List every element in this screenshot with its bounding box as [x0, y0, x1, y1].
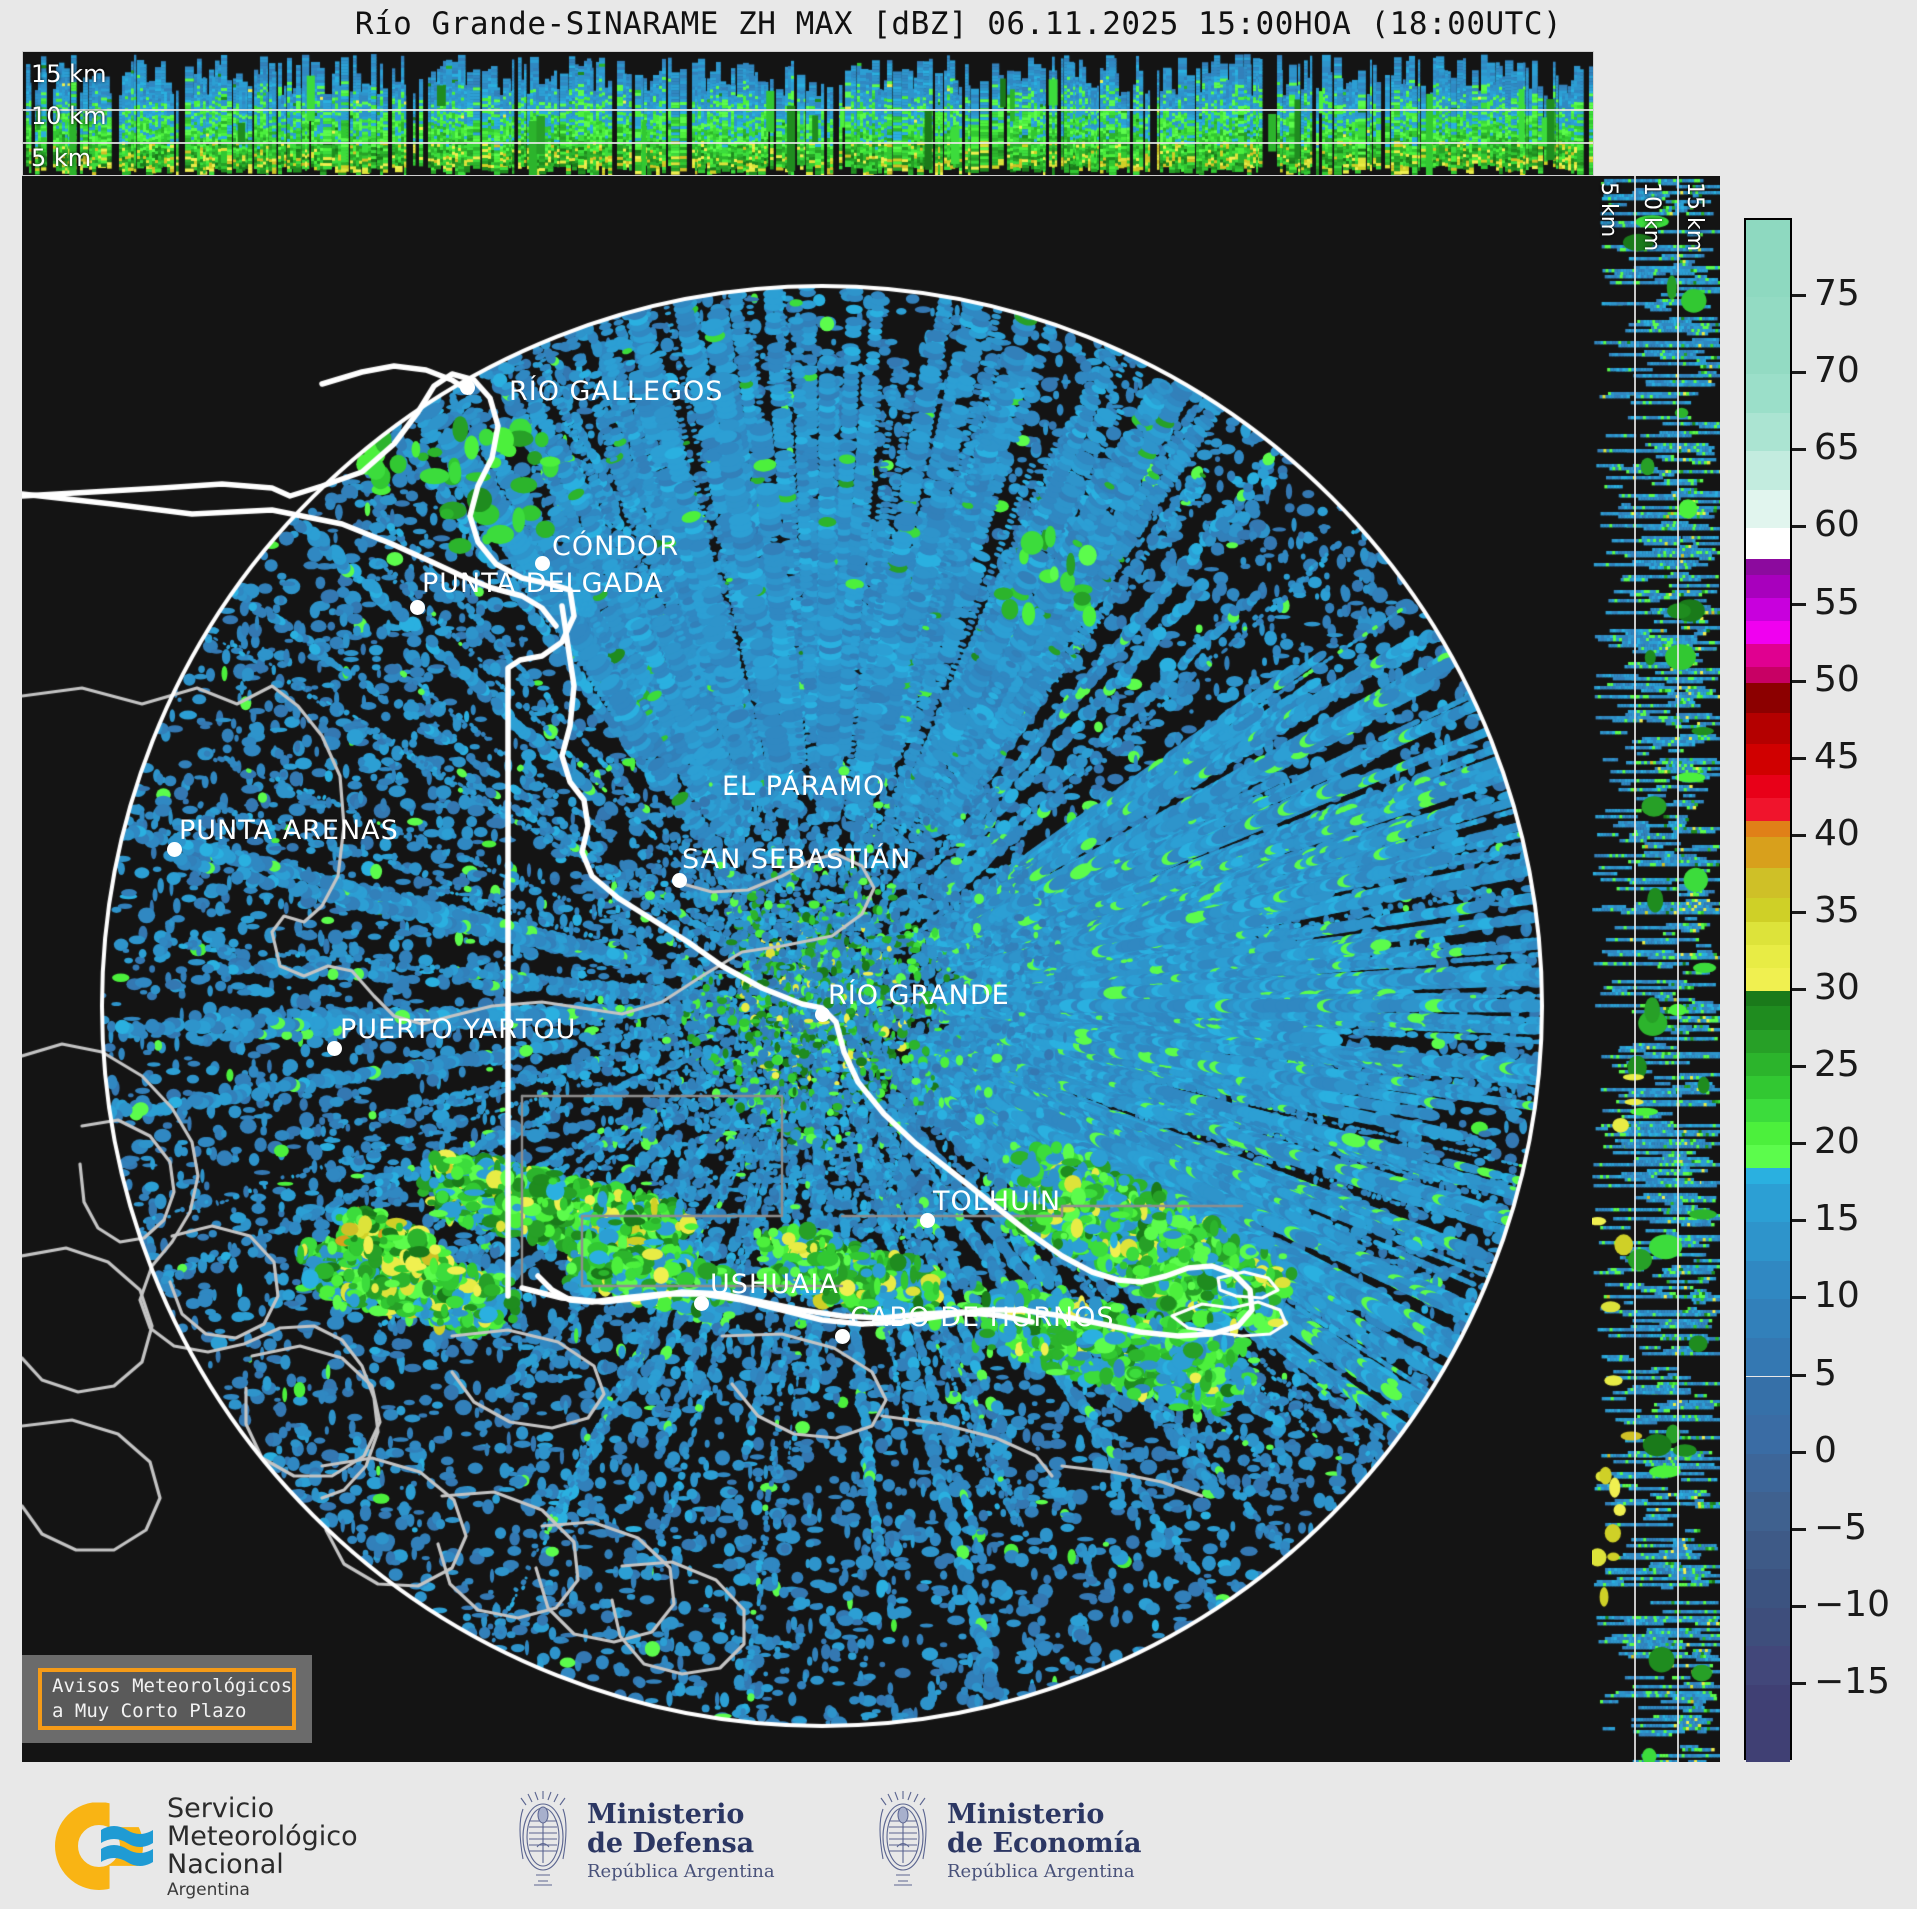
colorbar-segment — [1746, 1099, 1790, 1122]
colorbar-segment — [1746, 1685, 1790, 1762]
colorbar-segment — [1746, 220, 1790, 297]
colorbar-tick-dash — [1792, 371, 1806, 374]
warnings-legend-inner: Avisos Meteorológicos a Muy Corto Plazo — [38, 1668, 296, 1730]
colorbar-tick-label: 65 — [1814, 427, 1860, 468]
city-marker-dot[interactable] — [535, 556, 550, 571]
colorbar-segment — [1746, 528, 1790, 559]
colorbar-segment — [1746, 559, 1790, 574]
defensa-line-2: de Defensa — [587, 1830, 775, 1859]
city-marker-dot[interactable] — [694, 1296, 709, 1311]
colorbar-segment — [1746, 744, 1790, 775]
economia-line-3: República Argentina — [947, 1862, 1141, 1881]
colorbar-tick-label: 15 — [1814, 1198, 1860, 1239]
colorbar-tick-label: 10 — [1814, 1275, 1860, 1316]
colorbar-tick-dash — [1792, 448, 1806, 451]
colorbar-tick-label: 20 — [1814, 1121, 1860, 1162]
colorbar — [1744, 218, 1792, 1760]
smn-line-4: Argentina — [167, 1882, 358, 1900]
colorbar-segment — [1746, 1053, 1790, 1076]
warnings-legend-box[interactable]: Avisos Meteorológicos a Muy Corto Plazo — [22, 1655, 312, 1743]
colorbar-tick-dash — [1792, 988, 1806, 991]
warnings-legend-line2: a Muy Corto Plazo — [52, 1699, 292, 1724]
colorbar-ticks: 757065605550454035302520151050−5−10−15 — [1792, 218, 1912, 1760]
right-height-label-15km: 15 km — [1682, 182, 1707, 251]
height-label-5km: 5 km — [31, 144, 91, 172]
colorbar-tick-dash — [1792, 1682, 1806, 1685]
colorbar-segment — [1746, 1454, 1790, 1493]
colorbar-tick-dash — [1792, 834, 1806, 837]
radar-map-canvas — [22, 176, 1592, 1762]
colorbar-segment — [1746, 945, 1790, 968]
colorbar-segment — [1746, 868, 1790, 899]
colorbar-tick-dash — [1792, 1528, 1806, 1531]
colorbar-segment — [1746, 1030, 1790, 1053]
colorbar-segment — [1746, 968, 1790, 991]
warnings-legend-line1: Avisos Meteorológicos — [52, 1674, 292, 1699]
colorbar-segment — [1746, 1006, 1790, 1029]
colorbar-tick-dash — [1792, 525, 1806, 528]
colorbar-segment — [1746, 1531, 1790, 1570]
colorbar-tick-label: 70 — [1814, 350, 1860, 391]
colorbar-segment — [1746, 1299, 1790, 1338]
logo-ministerio-de-economia[interactable]: Ministerio de Economía República Argenti… — [872, 1789, 1141, 1893]
colorbar-tick-dash — [1792, 1451, 1806, 1454]
colorbar-tick-label: 25 — [1814, 1044, 1860, 1085]
colorbar-tick-label: 0 — [1814, 1430, 1837, 1471]
argentina-coat-of-arms-icon — [512, 1789, 574, 1893]
city-marker-dot[interactable] — [835, 1329, 850, 1344]
top-cross-section-canvas — [23, 52, 1593, 175]
argentina-coat-of-arms-icon — [872, 1789, 934, 1893]
colorbar-segment — [1746, 1646, 1790, 1685]
colorbar-tick-label: −10 — [1814, 1584, 1890, 1625]
colorbar-segment — [1746, 1222, 1790, 1261]
colorbar-tick-dash — [1792, 1219, 1806, 1222]
colorbar-tick-label: 35 — [1814, 890, 1860, 931]
colorbar-tick-label: 75 — [1814, 273, 1860, 314]
colorbar-segment — [1746, 1569, 1790, 1608]
colorbar-segment — [1746, 683, 1790, 714]
colorbar-segment — [1746, 297, 1790, 374]
smn-logo-text: Servicio Meteorológico Nacional Argentin… — [167, 1795, 358, 1900]
city-marker-dot[interactable] — [327, 1041, 342, 1056]
colorbar-segment — [1746, 1608, 1790, 1647]
colorbar-segment — [1746, 413, 1790, 452]
colorbar-segment — [1746, 598, 1790, 621]
page-title: Río Grande-SINARAME ZH MAX [dBZ] 06.11.2… — [0, 6, 1917, 42]
colorbar-tick-dash — [1792, 294, 1806, 297]
colorbar-segment — [1746, 621, 1790, 644]
colorbar-tick-label: −15 — [1814, 1661, 1890, 1702]
colorbar-tick-dash — [1792, 1296, 1806, 1299]
colorbar-tick-label: 60 — [1814, 504, 1860, 545]
colorbar-segment — [1746, 775, 1790, 798]
colorbar-tick-dash — [1792, 1605, 1806, 1608]
colorbar-tick-label: 5 — [1814, 1353, 1837, 1394]
colorbar-segment — [1746, 644, 1790, 667]
smn-line-1: Servicio — [167, 1795, 358, 1823]
colorbar-segment — [1746, 1377, 1790, 1416]
colorbar-segment — [1746, 1145, 1790, 1168]
gridline-5km — [23, 142, 1593, 144]
colorbar-segment — [1746, 1261, 1790, 1300]
colorbar-tick-label: 45 — [1814, 736, 1860, 777]
city-marker-dot[interactable] — [815, 1007, 830, 1022]
smn-flag-icon — [101, 1824, 153, 1870]
colorbar-tick-label: −5 — [1814, 1507, 1867, 1548]
logo-servicio-meteorologico-nacional[interactable]: Servicio Meteorológico Nacional Argentin… — [55, 1795, 358, 1900]
colorbar-tick-dash — [1792, 603, 1806, 606]
colorbar-tick-label: 55 — [1814, 582, 1860, 623]
colorbar-segment — [1746, 451, 1790, 490]
colorbar-segment — [1746, 1415, 1790, 1454]
colorbar-segment — [1746, 821, 1790, 836]
smn-line-2: Meteorológico — [167, 1823, 358, 1851]
colorbar-segment — [1746, 922, 1790, 945]
colorbar-tick-dash — [1792, 1065, 1806, 1068]
defensa-line-1: Ministerio — [587, 1801, 775, 1830]
city-marker-dot[interactable] — [460, 380, 475, 395]
colorbar-segment — [1746, 798, 1790, 821]
colorbar-segment — [1746, 374, 1790, 413]
city-marker-dot[interactable] — [167, 842, 182, 857]
colorbar-segment — [1746, 1338, 1790, 1377]
radar-map-panel[interactable]: RÍO GALLEGOSCÓNDORPUNTA DELGADAEL PÁRAMO… — [22, 176, 1592, 1762]
colorbar-tick-label: 50 — [1814, 659, 1860, 700]
gridline-10km — [23, 109, 1593, 111]
right-height-label-10km: 10 km — [1639, 182, 1664, 251]
colorbar-tick-dash — [1792, 1142, 1806, 1145]
colorbar-tick-label: 30 — [1814, 967, 1860, 1008]
economia-logo-text: Ministerio de Economía República Argenti… — [947, 1801, 1141, 1880]
right-height-label-5km: 5 km — [1596, 182, 1621, 237]
city-marker-dot[interactable] — [672, 873, 687, 888]
colorbar-segment — [1746, 1076, 1790, 1099]
colorbar-segment — [1746, 1168, 1790, 1183]
colorbar-segment — [1746, 898, 1790, 921]
smn-line-3: Nacional — [167, 1851, 358, 1879]
colorbar-tick-dash — [1792, 757, 1806, 760]
footer: Servicio Meteorológico Nacional Argentin… — [0, 1775, 1917, 1909]
colorbar-segment — [1746, 667, 1790, 682]
logo-ministerio-de-defensa[interactable]: Ministerio de Defensa República Argentin… — [512, 1789, 775, 1893]
colorbar-segment — [1746, 837, 1790, 868]
economia-line-1: Ministerio — [947, 1801, 1141, 1830]
top-cross-section-panel: 15 km 10 km 5 km — [22, 51, 1594, 176]
defensa-line-3: República Argentina — [587, 1862, 775, 1881]
vgridline-10km — [1634, 176, 1636, 1762]
colorbar-segment — [1746, 575, 1790, 598]
height-label-15km: 15 km — [31, 60, 106, 88]
defensa-logo-text: Ministerio de Defensa República Argentin… — [587, 1801, 775, 1880]
vgridline-15km — [1677, 176, 1679, 1762]
right-cross-section-panel: 5 km 10 km 15 km — [1592, 176, 1720, 1762]
height-label-10km: 10 km — [31, 102, 106, 130]
colorbar-gradient — [1744, 218, 1792, 1760]
colorbar-segment — [1746, 991, 1790, 1006]
smn-logo-icon — [55, 1798, 153, 1896]
colorbar-segment — [1746, 490, 1790, 529]
right-cross-section-canvas — [1592, 176, 1720, 1762]
colorbar-segment — [1746, 1492, 1790, 1531]
colorbar-segment — [1746, 713, 1790, 744]
colorbar-segment — [1746, 1122, 1790, 1145]
colorbar-tick-dash — [1792, 911, 1806, 914]
city-marker-dot[interactable] — [920, 1213, 935, 1228]
city-marker-dot[interactable] — [410, 600, 425, 615]
colorbar-tick-dash — [1792, 680, 1806, 683]
colorbar-segment — [1746, 1184, 1790, 1223]
colorbar-tick-label: 40 — [1814, 813, 1860, 854]
colorbar-tick-dash — [1792, 1374, 1806, 1377]
economia-line-2: de Economía — [947, 1830, 1141, 1859]
